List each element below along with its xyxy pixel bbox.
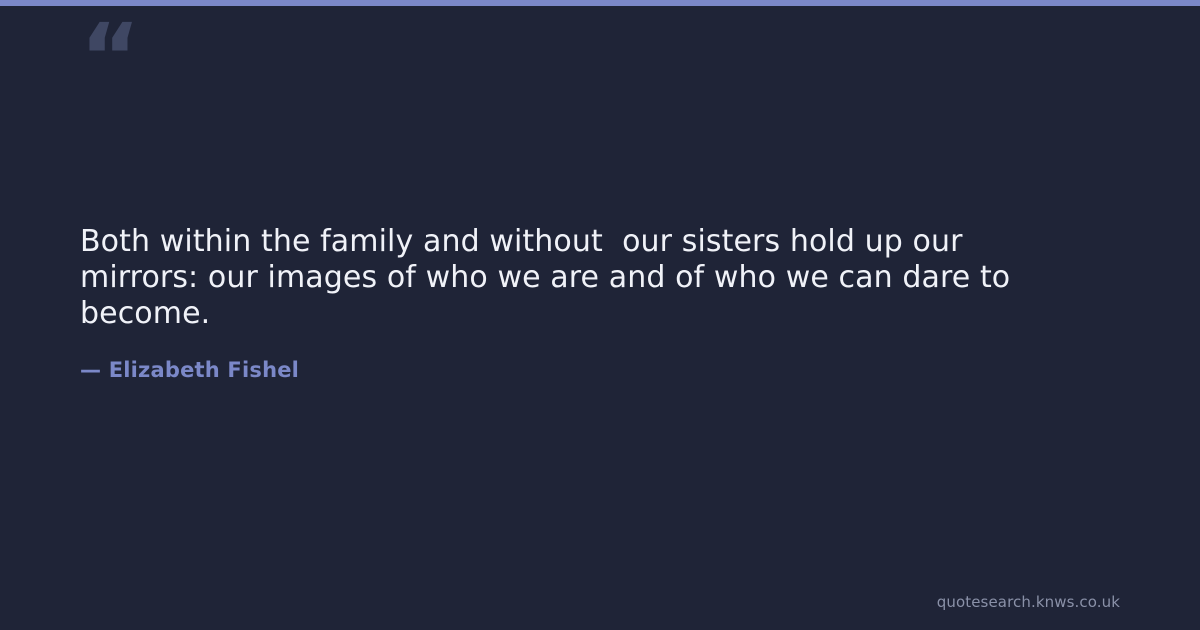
quote-text: Both within the family and without our s… bbox=[80, 224, 1090, 332]
quote-card: “ Both within the family and without our… bbox=[0, 0, 1200, 630]
open-quote-icon: “ bbox=[80, 12, 138, 104]
source-url: quotesearch.knws.co.uk bbox=[937, 592, 1120, 612]
quote-author: — Elizabeth Fishel bbox=[80, 356, 299, 384]
top-accent-bar bbox=[0, 0, 1200, 6]
